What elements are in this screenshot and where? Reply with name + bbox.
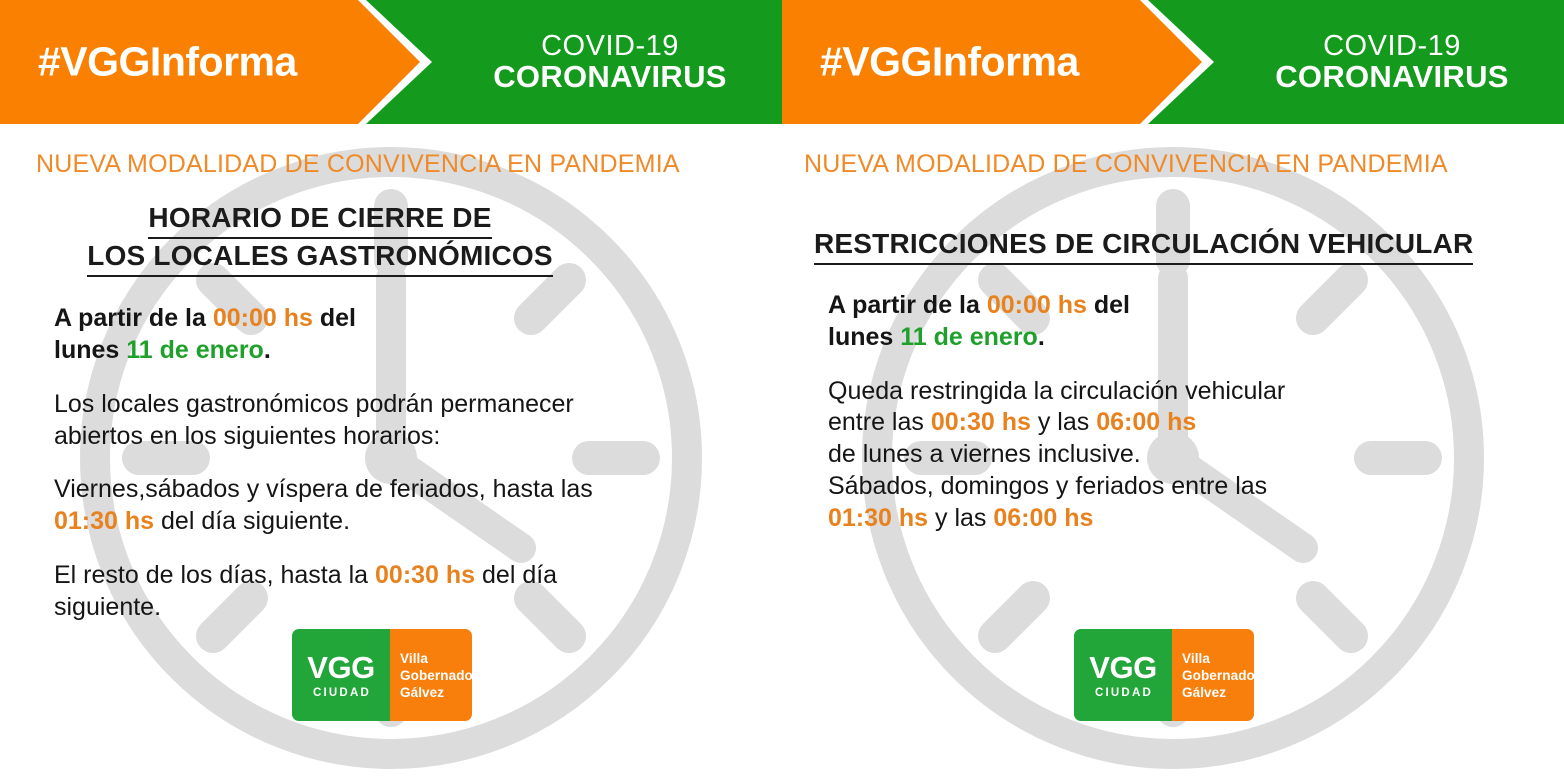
p2-line1: Los locales gastronómicos podrán permane…: [54, 390, 574, 418]
infographic-board: #VGGInforma COVID-19 CORONAVIRUS: [0, 0, 1564, 776]
banner-header-left: #VGGInforma COVID-19 CORONAVIRUS: [0, 0, 782, 124]
kicker-left: NUEVA MODALIDAD DE CONVIVENCIA EN PANDEM…: [36, 150, 782, 179]
p1-c: lunes: [54, 336, 126, 364]
p4-time: 00:30 hs: [375, 561, 475, 589]
vgg-logo-vgg-text: VGG: [1089, 652, 1156, 683]
title-left-line2: LOS LOCALES GASTRONÓMICOS: [87, 239, 552, 277]
banner-covid-line1: COVID-19: [1242, 31, 1542, 61]
rp2-l5-b: y las: [928, 504, 993, 532]
vgg-logo-left: VGG CIUDAD Villa Gobernador Gálvez: [292, 629, 472, 721]
paragraph-start-date-left: A partir de la 00:00 hs del lunes 11 de …: [54, 303, 782, 367]
title-right: RESTRICCIONES DE CIRCULACIÓN VEHICULAR: [814, 227, 1564, 265]
p2-line2: abiertos en los siguientes horarios:: [54, 422, 440, 450]
content-right: NUEVA MODALIDAD DE CONVIVENCIA EN PANDEM…: [782, 150, 1564, 534]
banner-covid-block: COVID-19 CORONAVIRUS: [1242, 31, 1542, 93]
rp2-l4: Sábados, domingos y feriados entre las: [828, 472, 1267, 500]
kicker-right: NUEVA MODALIDAD DE CONVIVENCIA EN PANDEM…: [804, 150, 1564, 179]
rp1-time: 00:00 hs: [987, 291, 1087, 319]
rp2-l5-t1: 01:30 hs: [828, 504, 928, 532]
banner-hashtag: #VGGInforma: [38, 39, 297, 86]
paragraph-weekend-left: Viernes,sábados y víspera de feriados, h…: [54, 474, 782, 538]
rp2-l2-a: entre las: [828, 408, 931, 436]
paragraph-restriction-right: Queda restringida la circulación vehicul…: [828, 376, 1564, 535]
vgg-logo-right: VGG CIUDAD Villa Gobernador Gálvez: [1074, 629, 1254, 721]
p4-b: del día: [475, 561, 557, 589]
rp2-l2-b: y las: [1031, 408, 1096, 436]
p3-b: del día siguiente.: [154, 507, 350, 535]
panel-gastronomia: #VGGInforma COVID-19 CORONAVIRUS: [0, 0, 782, 776]
p1-date: 11 de enero: [126, 336, 264, 364]
vgg-logo-line2: Gobernador: [400, 667, 472, 684]
p4-a: El resto de los días, hasta la: [54, 561, 375, 589]
banner-covid-line2: CORONAVIRUS: [460, 61, 760, 93]
vgg-logo-ciudad-text: CIUDAD: [311, 688, 371, 700]
p1-b: del: [313, 304, 356, 332]
rp1-c: lunes: [828, 323, 900, 351]
paragraph-start-date-right: A partir de la 00:00 hs del lunes 11 de …: [828, 290, 1564, 354]
title-left: HORARIO DE CIERRE DE LOS LOCALES GASTRON…: [0, 201, 782, 277]
banner-covid-line2: CORONAVIRUS: [1242, 61, 1542, 93]
content-left: NUEVA MODALIDAD DE CONVIVENCIA EN PANDEM…: [0, 150, 782, 623]
banner-hashtag: #VGGInforma: [820, 39, 1079, 86]
title-right-line1: RESTRICCIONES DE CIRCULACIÓN VEHICULAR: [814, 227, 1473, 265]
p3-time: 01:30 hs: [54, 507, 154, 535]
vgg-logo-ciudad-text: CIUDAD: [1093, 688, 1153, 700]
vgg-logo-line2: Gobernador: [1182, 667, 1254, 684]
vgg-logo-orange-block: Villa Gobernador Gálvez: [1172, 629, 1254, 721]
title-left-line1: HORARIO DE CIERRE DE: [148, 201, 491, 239]
vgg-logo-line1: Villa: [1182, 650, 1254, 667]
p3-a: Viernes,sábados y víspera de feriados, h…: [54, 475, 593, 503]
p1-a: A partir de la: [54, 304, 213, 332]
rp2-l5-t2: 06:00 hs: [993, 504, 1093, 532]
vgg-logo-line3: Gálvez: [400, 684, 472, 701]
p4-c: siguiente.: [54, 593, 161, 621]
vgg-logo-green-block: VGG CIUDAD: [292, 629, 390, 721]
rp2-l2-t1: 00:30 hs: [931, 408, 1031, 436]
body-right: A partir de la 00:00 hs del lunes 11 de …: [828, 290, 1564, 534]
rp1-date: 11 de enero: [900, 323, 1038, 351]
p1-d: .: [264, 336, 271, 364]
rp1-b: del: [1087, 291, 1130, 319]
vgg-logo-line1: Villa: [400, 650, 472, 667]
paragraph-weekdays-left: El resto de los días, hasta la 00:30 hs …: [54, 560, 782, 624]
rp2-l3: de lunes a viernes inclusive.: [828, 440, 1141, 468]
vgg-logo-orange-block: Villa Gobernador Gálvez: [390, 629, 472, 721]
rp1-a: A partir de la: [828, 291, 987, 319]
vgg-logo-line3: Gálvez: [1182, 684, 1254, 701]
rp1-d: .: [1038, 323, 1045, 351]
rp2-l1: Queda restringida la circulación vehicul…: [828, 377, 1285, 405]
banner-covid-block: COVID-19 CORONAVIRUS: [460, 31, 760, 93]
rp2-l2-t2: 06:00 hs: [1096, 408, 1196, 436]
paragraph-opening-left: Los locales gastronómicos podrán permane…: [54, 389, 782, 453]
banner-header-right: #VGGInforma COVID-19 CORONAVIRUS: [782, 0, 1564, 124]
vgg-logo-green-block: VGG CIUDAD: [1074, 629, 1172, 721]
p1-time: 00:00 hs: [213, 304, 313, 332]
panel-circulacion: #VGGInforma COVID-19 CORONAVIRUS: [782, 0, 1564, 776]
body-left: A partir de la 00:00 hs del lunes 11 de …: [54, 303, 782, 623]
banner-covid-line1: COVID-19: [460, 31, 760, 61]
vgg-logo-vgg-text: VGG: [307, 652, 374, 683]
